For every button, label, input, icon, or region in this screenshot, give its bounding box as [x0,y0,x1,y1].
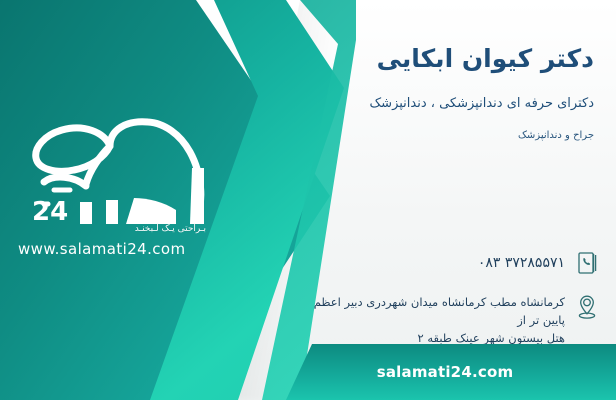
logo-url: www.salamati24.com [18,240,186,258]
footer-website[interactable]: salamati24.com [377,363,514,381]
logo-badge-24: 24 [32,197,68,227]
business-card: 24 بـراحتی یـک لـبخنـد www.salamati24.co… [0,0,616,400]
location-pin-icon [574,292,600,322]
brand-logo: 24 بـراحتی یـک لـبخنـد www.salamati24.co… [14,112,214,272]
logo-tagline: بـراحتی یـک لـبخنـد [135,224,206,234]
address-line-1: کرمانشاه مطب کرمانشاه میدان شهردری دبیر … [300,294,565,330]
footer-bar: salamati24.com [286,344,616,400]
phone-number[interactable]: ۳۷۲۸۵۵۷۱ ۰۸۳ [300,248,565,275]
contact-row-address: کرمانشاه مطب کرمانشاه میدان شهردری دبیر … [300,292,600,347]
doctor-name: دکتر کیوان ابکایی [377,44,594,73]
contact-row-phone: ۳۷۲۸۵۵۷۱ ۰۸۳ [300,248,600,278]
apple-logo-icon: 24 [14,112,214,242]
doctor-specialty: دکترای حرفه ای دندانپزشکی ، دندانپزشک [370,96,594,111]
address-text[interactable]: کرمانشاه مطب کرمانشاه میدان شهردری دبیر … [300,292,565,347]
phonebook-icon [574,248,600,278]
doctor-subtitle: جراح و دندانپزشک [518,130,594,141]
